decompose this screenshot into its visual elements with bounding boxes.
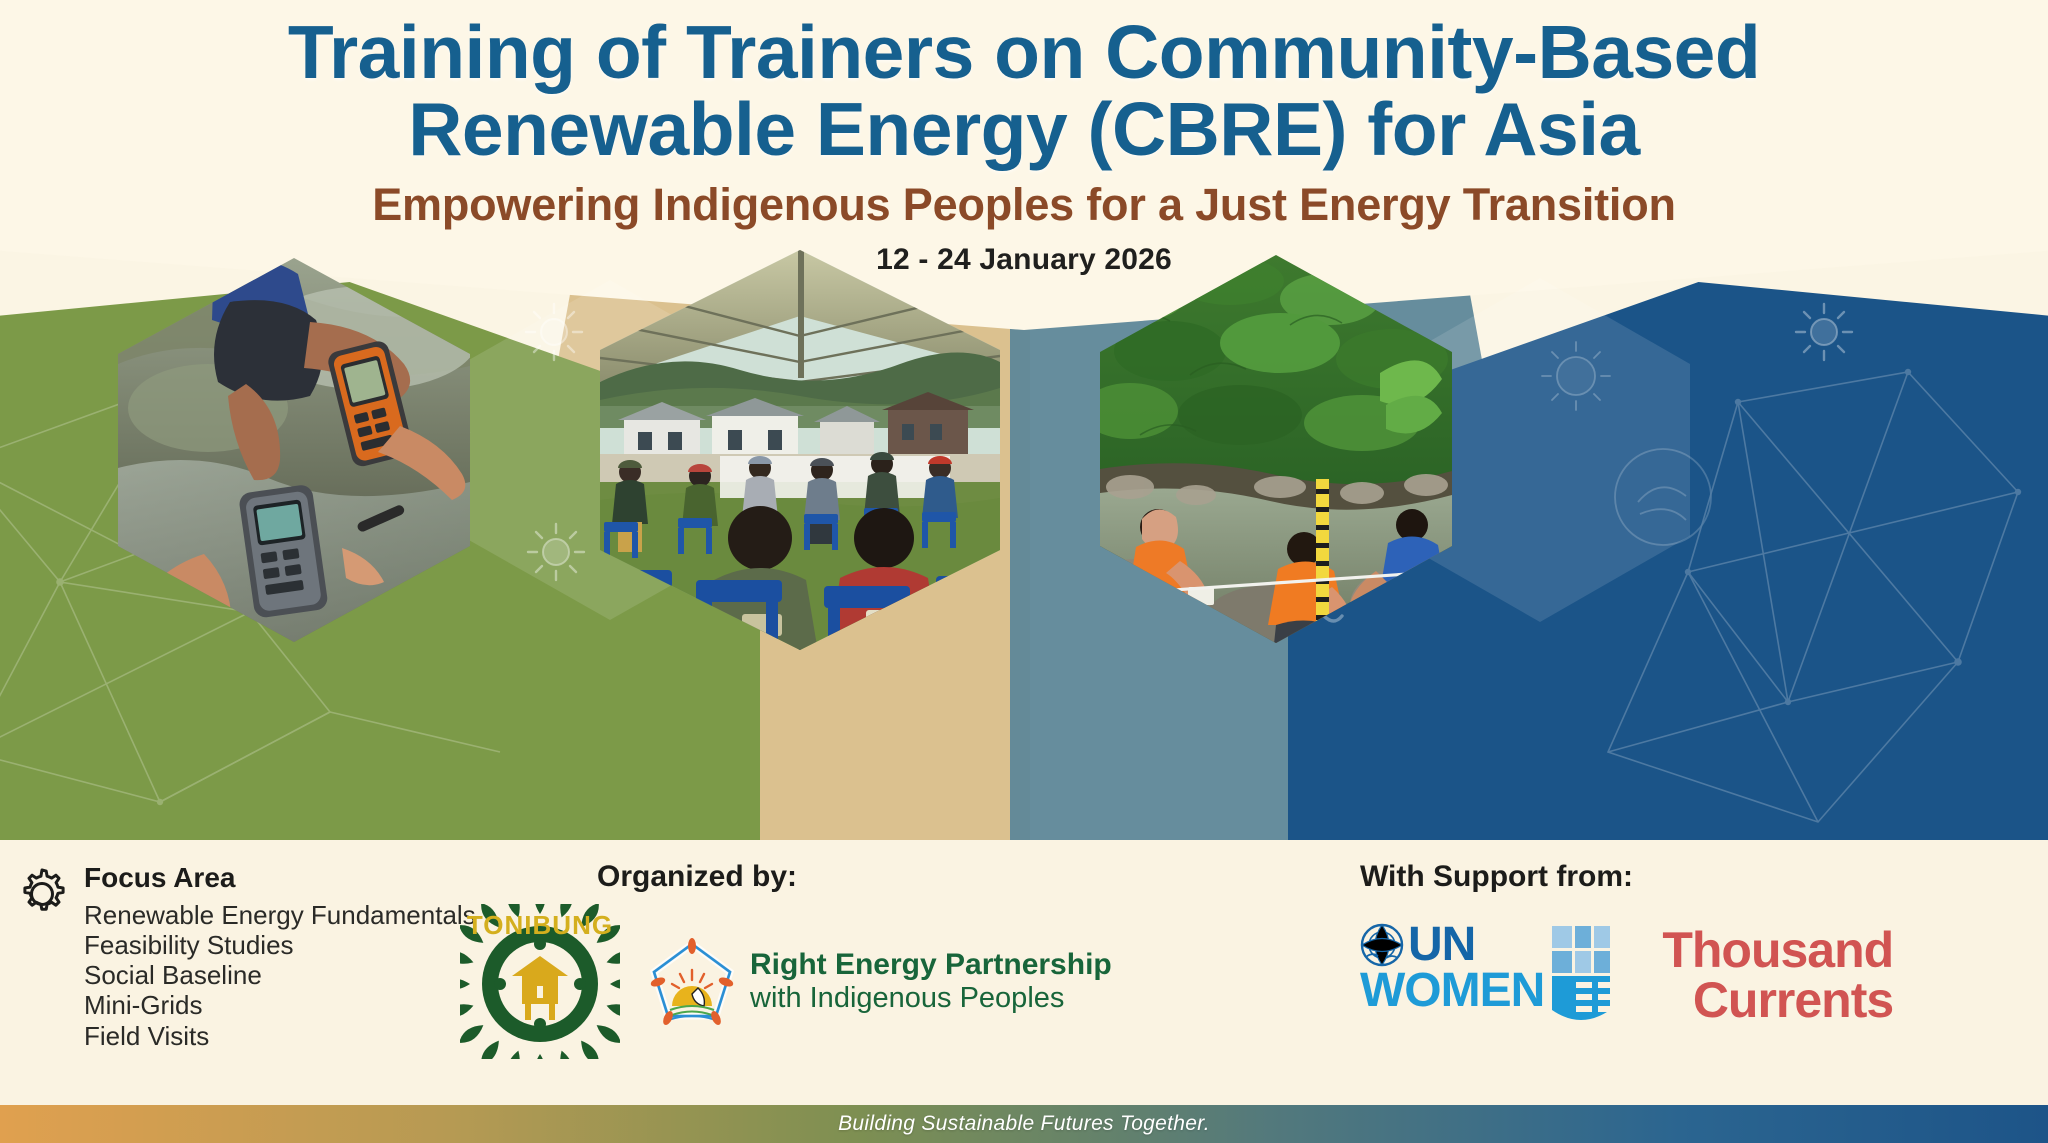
hex-photo-gps-field-survey-image: [118, 258, 470, 642]
focus-item: Field Visits: [84, 1021, 476, 1051]
support-label: With Support from:: [1360, 860, 2040, 894]
organized-by-block: Organized by:: [600, 860, 1300, 1059]
un-women-logo: UN WOMEN: [1360, 922, 1628, 1028]
thousand-currents-logo: Thousand Currents: [1662, 925, 1893, 1025]
tonibung-logo: TONIBUNG: [460, 904, 620, 1059]
sun-icon: [1790, 298, 1858, 366]
tonibung-wordmark: TONIBUNG: [460, 910, 620, 941]
un-women-un-text: UN: [1408, 922, 1475, 968]
footer-tagline: Building Sustainable Futures Together.: [838, 1112, 1210, 1136]
thousand-currents-line-1: Thousand: [1662, 925, 1893, 975]
hex-photo-stream-measurement-image: [1100, 255, 1452, 643]
sun-icon: [522, 518, 590, 586]
page-subtitle: Empowering Indigenous Peoples for a Just…: [0, 179, 2048, 231]
organized-by-label: Organized by:: [597, 860, 1300, 894]
right-energy-partnership-logo: Right Energy Partnership with Indigenous…: [646, 936, 1112, 1028]
event-date: 12 - 24 January 2026: [0, 243, 2048, 277]
un-women-bars-icon: [1552, 922, 1628, 1028]
info-band: Focus Area Renewable Energy Fundamentals…: [0, 840, 2048, 1105]
title-line-1: Training of Trainers on Community-Based: [288, 10, 1760, 94]
un-emblem-icon: [1360, 923, 1404, 967]
thousand-currents-line-2: Currents: [1662, 975, 1893, 1025]
header-block: Training of Trainers on Community-Based …: [0, 14, 2048, 277]
footer-bar: Building Sustainable Futures Together.: [0, 1105, 2048, 1143]
focus-area-block: Focus Area Renewable Energy Fundamentals…: [14, 862, 476, 1051]
title-line-2: Renewable Energy (CBRE) for Asia: [0, 91, 2048, 168]
sun-icon: [520, 298, 588, 366]
focus-item: Mini-Grids: [84, 990, 476, 1020]
rep-line-1: Right Energy Partnership: [750, 948, 1112, 982]
rep-line-2: with Indigenous Peoples: [750, 982, 1112, 1014]
support-block: With Support from:: [1360, 860, 2040, 1028]
focus-item: Social Baseline: [84, 960, 476, 990]
focus-item: Renewable Energy Fundamentals: [84, 900, 476, 930]
gear-icon: [14, 866, 70, 922]
hexagon-photo-cluster: [0, 250, 2048, 650]
rep-emblem-icon: [646, 936, 738, 1028]
focus-item: Feasibility Studies: [84, 930, 476, 960]
focus-area-list: Renewable Energy Fundamentals Feasibilit…: [84, 900, 476, 1051]
hex-photo-gps-field-survey: [118, 258, 470, 642]
un-women-women-text: WOMEN: [1360, 968, 1544, 1014]
cbre-training-banner: Training of Trainers on Community-Based …: [0, 0, 2048, 1143]
focus-area-heading: Focus Area: [84, 862, 476, 894]
page-title: Training of Trainers on Community-Based …: [0, 14, 2048, 167]
hex-photo-stream-measurement: [1100, 255, 1452, 643]
